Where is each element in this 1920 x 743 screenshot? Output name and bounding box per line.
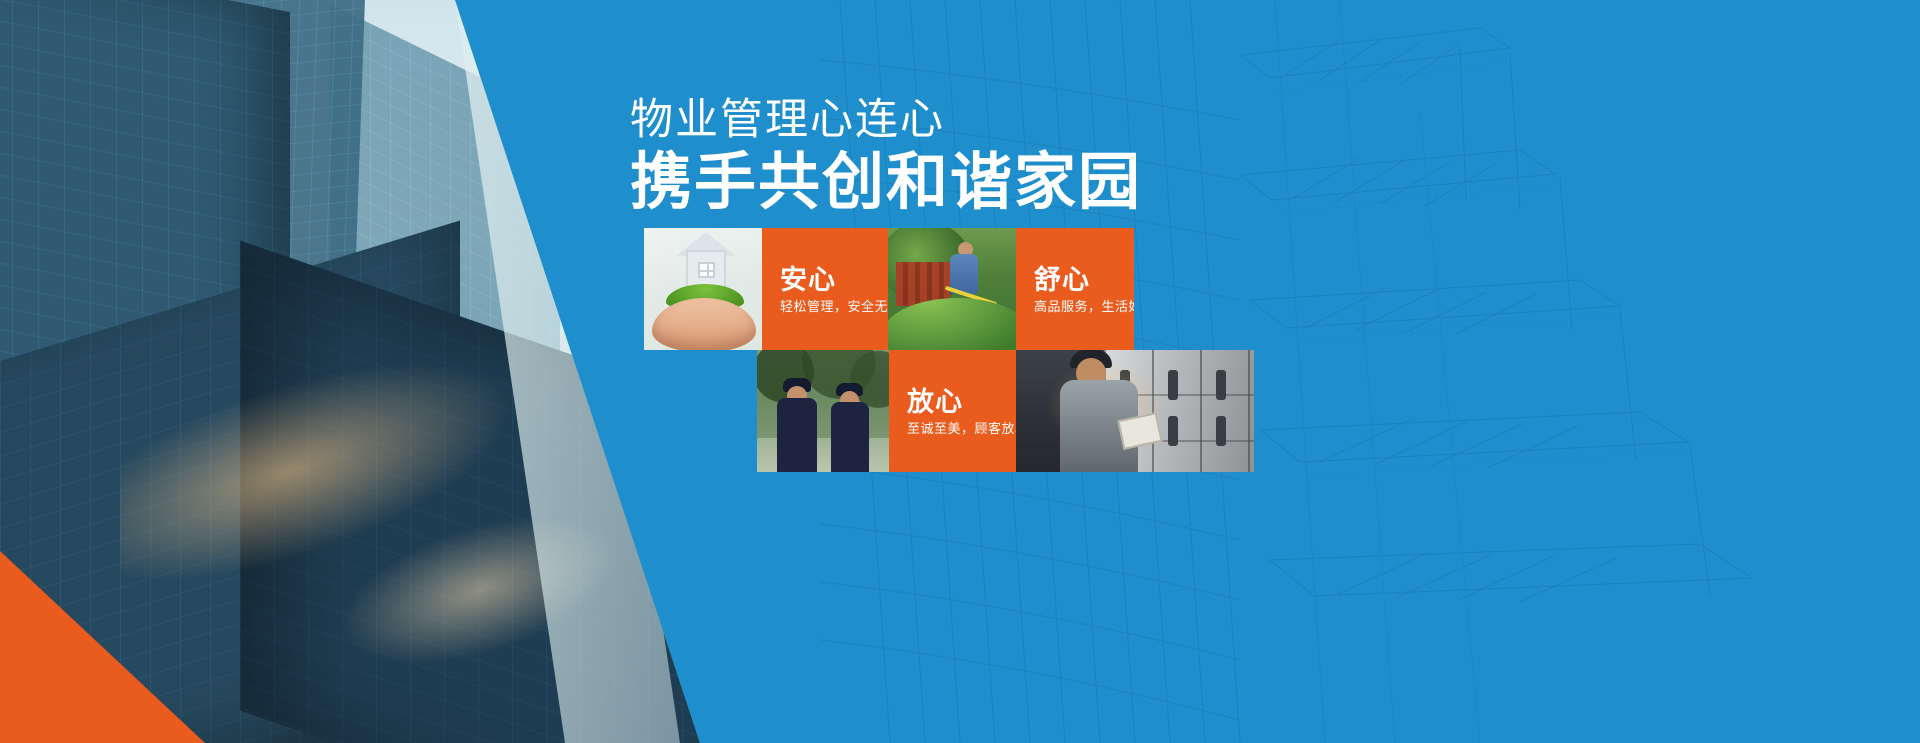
guard-body-right [831,402,869,472]
house-window-icon [698,262,715,278]
headline-line-2: 携手共创和谐家园 [630,148,1190,217]
gardener-photo [888,228,1016,350]
shuxin-card[interactable]: 舒心 高品服务，生活好管家 [1016,228,1134,350]
electrician-artwork [1016,350,1254,472]
anxin-card-title: 安心 [780,258,836,297]
headline-block: 物业管理心连心 携手共创和谐家园 [630,96,1190,218]
fangxin-card-title: 放心 [907,380,963,419]
property-management-banner: 物业管理心连心 携手共创和谐家园 安心 轻松管理，安全无忧 [0,0,1920,743]
fangxin-card-subtitle: 至诚至美，顾客放心 [907,418,1016,437]
feature-tile-grid: 安心 轻松管理，安全无忧 舒心 高品服务，生活好管家 [644,228,1256,468]
security-guards-artwork [757,350,889,472]
electrician-photo [1016,350,1254,472]
shuxin-card-title: 舒心 [1034,258,1090,297]
house-in-hands-artwork [644,228,762,350]
cabinet-handle-6 [1216,416,1226,446]
cabinet-handle-5 [1168,416,1178,446]
guard-body-left [777,398,817,472]
anxin-card-subtitle: 轻松管理，安全无忧 [780,296,888,315]
house-in-hands-photo [644,228,762,350]
shuxin-card-subtitle: 高品服务，生活好管家 [1034,296,1134,315]
security-guards-photo [757,350,889,472]
fangxin-card[interactable]: 放心 至诚至美，顾客放心 [889,350,1016,472]
headline-line-1: 物业管理心连心 [630,96,1190,144]
anxin-card[interactable]: 安心 轻松管理，安全无忧 [762,228,888,350]
gardener-artwork [888,228,1016,350]
cabinet-handle-3 [1216,370,1226,400]
cabinet-handle-2 [1168,370,1178,400]
